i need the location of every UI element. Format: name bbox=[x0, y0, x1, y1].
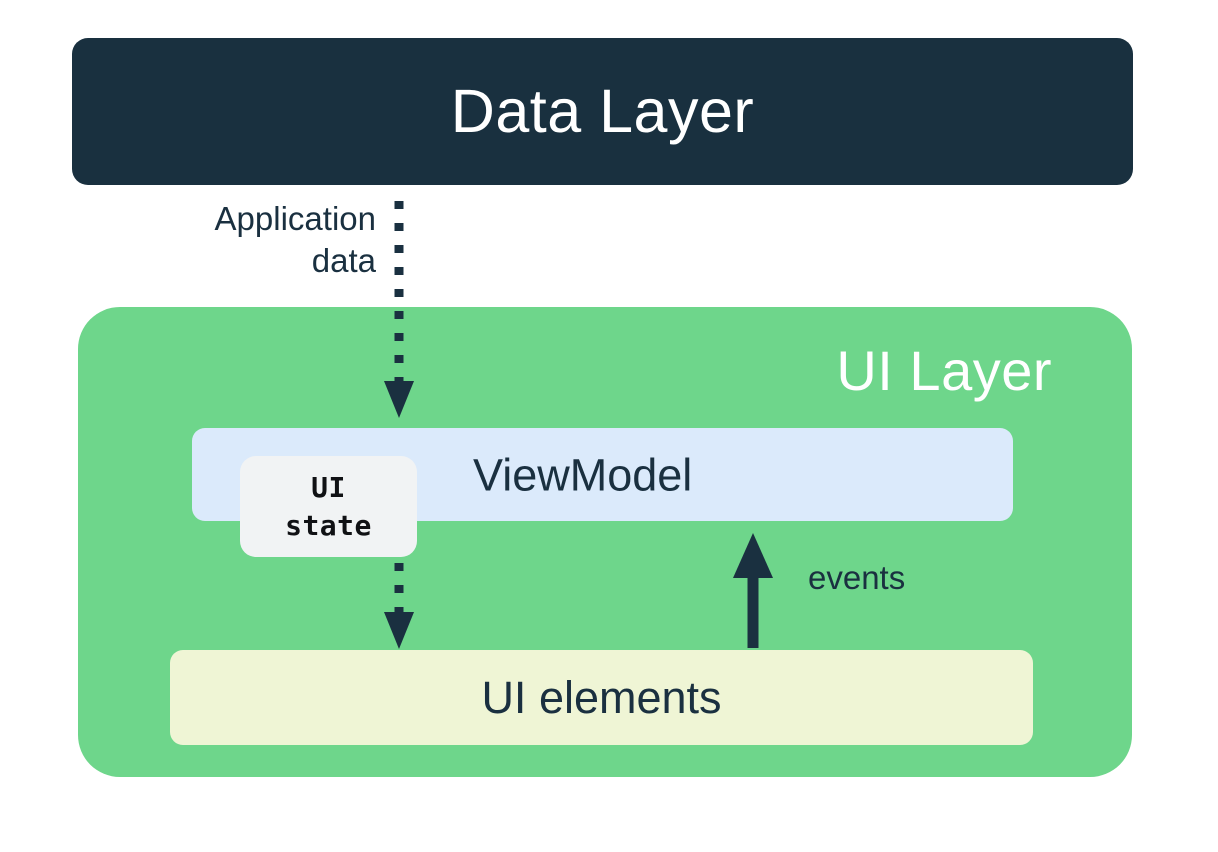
application-data-label-line1: Application bbox=[150, 198, 376, 240]
application-data-label-line2: data bbox=[150, 240, 376, 282]
architecture-diagram: Data Layer Application data UI Layer Vie… bbox=[0, 0, 1218, 852]
ui-elements-label: UI elements bbox=[481, 675, 721, 720]
application-data-label: Application data bbox=[150, 198, 376, 282]
ui-elements-box: UI elements bbox=[170, 650, 1033, 745]
ui-state-chip-line1: UI bbox=[311, 469, 346, 507]
events-label: events bbox=[808, 561, 905, 594]
ui-state-chip-line2: state bbox=[285, 507, 372, 545]
ui-state-chip: UI state bbox=[240, 456, 417, 557]
viewmodel-label: ViewModel bbox=[473, 452, 692, 497]
ui-layer-title: UI Layer bbox=[836, 343, 1052, 399]
data-layer-box: Data Layer bbox=[72, 38, 1133, 185]
data-layer-title: Data Layer bbox=[451, 81, 754, 142]
